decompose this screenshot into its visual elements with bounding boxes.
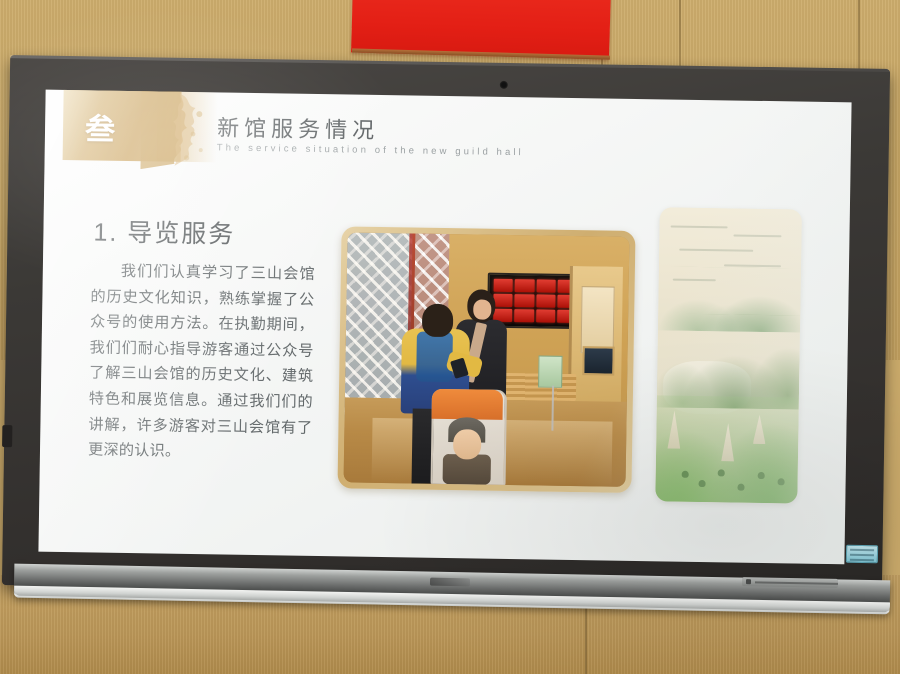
photo-volunteer-head [422,304,454,337]
control-panel[interactable] [742,577,838,588]
photo-frame [337,226,635,493]
brand-logo [430,578,470,587]
photo-wall-poster [580,286,614,354]
slide-title: 新馆服务情况 [217,110,379,145]
section-heading: 1. 导览服务 [93,212,235,250]
photo-visitor-face [473,299,492,319]
photo-baby-face [452,429,481,459]
photo-wall-monitor [582,346,615,376]
lobby-photo [344,232,630,486]
gold-fade [157,90,218,163]
lower-wall-seam [585,608,587,674]
body-paragraph: 我们们认真学习了三山会馆的历史文化知识，熟练掌握了公众号的使用方法。在执勤期间，… [88,258,315,466]
presentation-display[interactable]: 叁 新馆服务情况 The service situation of the ne… [2,55,890,599]
slide-subtitle-english: The service situation of the new guild h… [217,142,524,158]
photo-info-sign [538,355,563,387]
ir-sensor-icon [500,81,508,89]
landscape-painting [655,207,802,503]
section-number-text: 叁 [85,104,117,148]
slide-screen[interactable]: 叁 新馆服务情况 The service situation of the ne… [38,90,851,565]
asset-sticker [846,545,878,564]
photo-volunteer-vest [416,331,453,382]
bezel-side-clip [2,425,12,447]
room-scene: 叁 新馆服务情况 The service situation of the ne… [0,0,900,674]
photo-stroller-hood [432,389,503,420]
